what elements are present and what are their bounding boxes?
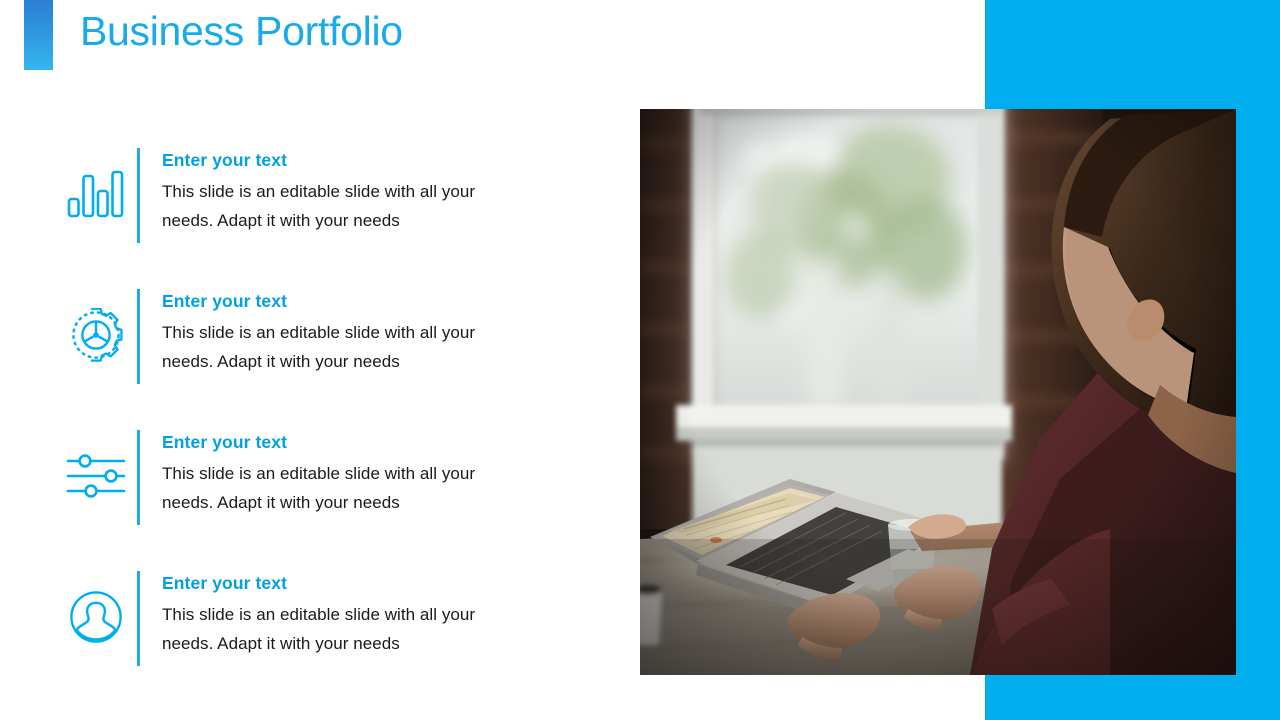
feature-heading: Enter your text	[162, 573, 502, 594]
hero-photo-illustration	[640, 109, 1236, 675]
decorative-panel-right-strip	[1236, 109, 1280, 675]
sliders-icon	[60, 440, 132, 512]
feature-divider	[137, 430, 140, 525]
feature-heading: Enter your text	[162, 150, 502, 171]
feature-heading: Enter your text	[162, 291, 502, 312]
feature-heading: Enter your text	[162, 432, 502, 453]
feature-divider	[137, 571, 140, 666]
decorative-panel-top-right	[985, 0, 1280, 109]
feature-body: This slide is an editable slide with all…	[162, 178, 502, 235]
feature-item-3[interactable]: Enter your text This slide is an editabl…	[60, 430, 620, 571]
feature-body: This slide is an editable slide with all…	[162, 319, 502, 376]
gear-target-icon	[60, 299, 132, 371]
feature-text: Enter your text This slide is an editabl…	[162, 571, 502, 658]
bar-chart-icon	[60, 158, 132, 230]
feature-text: Enter your text This slide is an editabl…	[162, 148, 502, 235]
feature-body: This slide is an editable slide with all…	[162, 460, 502, 517]
feature-divider	[137, 289, 140, 384]
feature-item-1[interactable]: Enter your text This slide is an editabl…	[60, 148, 620, 289]
feature-list: Enter your text This slide is an editabl…	[60, 148, 620, 712]
page-title: Business Portfolio	[80, 8, 403, 55]
feature-item-2[interactable]: Enter your text This slide is an editabl…	[60, 289, 620, 430]
slide-canvas: Business Portfolio Enter your text This …	[0, 0, 1280, 720]
decorative-panel-bottom-right	[985, 675, 1280, 720]
feature-body: This slide is an editable slide with all…	[162, 601, 502, 658]
hero-photo	[640, 109, 1236, 675]
feature-text: Enter your text This slide is an editabl…	[162, 430, 502, 517]
user-circle-icon	[60, 581, 132, 653]
feature-text: Enter your text This slide is an editabl…	[162, 289, 502, 376]
feature-item-4[interactable]: Enter your text This slide is an editabl…	[60, 571, 620, 712]
feature-divider	[137, 148, 140, 243]
title-accent-bar	[24, 0, 53, 70]
